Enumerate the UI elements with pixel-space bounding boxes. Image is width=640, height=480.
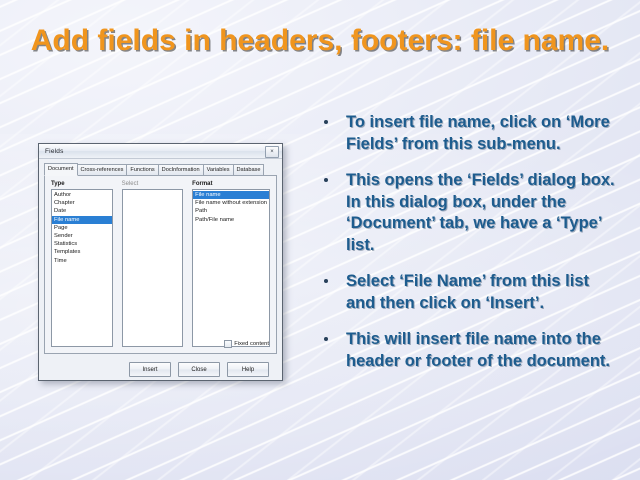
format-column: Format File name File name without exten… [192, 181, 270, 347]
tab-cross-references[interactable]: Cross-references [77, 164, 128, 176]
page-title: Add fields in headers, footers: file nam… [30, 22, 610, 60]
tab-database[interactable]: Database [233, 164, 265, 176]
list-item-selected[interactable]: File name [193, 191, 269, 199]
list-item[interactable]: Templates [52, 248, 112, 256]
dialog-button-row: Insert Close Help [44, 354, 277, 377]
type-column: Type Author Chapter Date File name Page … [51, 181, 113, 347]
bullet-list: To insert file name, click on ‘More Fiel… [318, 112, 618, 387]
bullet-dot-icon [324, 337, 328, 341]
dialog-title: Fields [42, 148, 64, 155]
list-item[interactable]: Statistics [52, 240, 112, 248]
bullet-dot-icon [324, 120, 328, 124]
fields-dialog: Fields × Document Cross-references Funct… [38, 143, 283, 381]
list-item: Select ‘File Name’ from this list and th… [318, 271, 618, 314]
list-item-selected[interactable]: File name [52, 216, 112, 224]
close-icon[interactable]: × [265, 146, 279, 158]
list-item: This opens the ‘Fields’ dialog box. In t… [318, 170, 618, 256]
type-label: Type [51, 181, 113, 187]
list-item[interactable]: Time [52, 257, 112, 265]
fixed-content-label: Fixed content [234, 341, 269, 347]
list-item[interactable]: Sender [52, 232, 112, 240]
dialog-tab-bar: Document Cross-references Functions DocI… [44, 163, 277, 176]
list-item[interactable]: Path [193, 207, 269, 215]
bullet-text: This will insert file name into the head… [346, 330, 610, 370]
fixed-content-checkbox[interactable] [224, 340, 232, 348]
list-item: To insert file name, click on ‘More Fiel… [318, 112, 618, 155]
list-item[interactable]: Date [52, 207, 112, 215]
bullet-dot-icon [324, 178, 328, 182]
close-button[interactable]: Close [178, 362, 220, 377]
list-item[interactable]: File name without extension [193, 199, 269, 207]
bullet-text: This opens the ‘Fields’ dialog box. In t… [346, 171, 615, 254]
select-listbox[interactable] [122, 189, 184, 347]
tab-functions[interactable]: Functions [126, 164, 158, 176]
type-listbox[interactable]: Author Chapter Date File name Page Sende… [51, 189, 113, 347]
list-item[interactable]: Page [52, 224, 112, 232]
list-item[interactable]: Path/File name [193, 216, 269, 224]
tab-variables[interactable]: Variables [203, 164, 234, 176]
fixed-content-checkbox-row[interactable]: Fixed content [224, 340, 269, 348]
format-label: Format [192, 181, 270, 187]
list-item: This will insert file name into the head… [318, 329, 618, 372]
list-item[interactable]: Author [52, 191, 112, 199]
presentation-slide: Add fields in headers, footers: file nam… [0, 0, 640, 480]
bullet-dot-icon [324, 279, 328, 283]
help-button[interactable]: Help [227, 362, 269, 377]
format-listbox[interactable]: File name File name without extension Pa… [192, 189, 270, 347]
select-column: Select [122, 181, 184, 347]
tab-docinformation[interactable]: DocInformation [158, 164, 204, 176]
dialog-body: Document Cross-references Functions DocI… [39, 159, 282, 381]
bullet-text: Select ‘File Name’ from this list and th… [346, 272, 589, 312]
bullet-text: To insert file name, click on ‘More Fiel… [346, 113, 610, 153]
list-item[interactable]: Chapter [52, 199, 112, 207]
document-tab-panel: Type Author Chapter Date File name Page … [44, 176, 277, 354]
insert-button[interactable]: Insert [129, 362, 171, 377]
tab-document[interactable]: Document [44, 163, 78, 177]
select-label: Select [122, 181, 184, 187]
dialog-title-bar[interactable]: Fields × [39, 144, 282, 159]
